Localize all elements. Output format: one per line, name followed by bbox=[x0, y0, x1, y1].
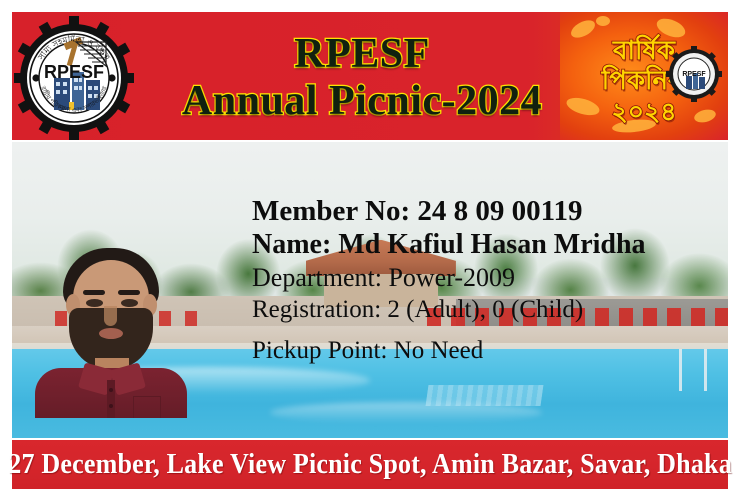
member-name-line: Name: Md Kafiul Hasan Mridha bbox=[252, 230, 732, 261]
member-no-line: Member No: 24 8 09 00119 bbox=[252, 196, 732, 228]
bengali-picnic-badge: বার্ষিক পিকনিক ২০২৪ bbox=[560, 12, 728, 140]
portrait-shirt-placket bbox=[107, 380, 115, 418]
portrait-shirt-pocket bbox=[133, 396, 161, 418]
title-line-1: RPESF bbox=[294, 33, 430, 76]
event-venue-date: 27 December, Lake View Picnic Spot, Amin… bbox=[8, 449, 732, 481]
picnic-invitation-card: RPESF সাম্য সহমর্মিতা ও বন্ধুত্ব রাষ্ট্র… bbox=[0, 0, 740, 504]
portrait-mouth bbox=[99, 328, 123, 339]
svg-text:RPESF: RPESF bbox=[44, 62, 104, 82]
department-line: Department: Power-2009 bbox=[252, 264, 732, 293]
portrait-nose bbox=[104, 306, 117, 326]
portrait-eyebrow-right bbox=[118, 290, 140, 295]
member-photo bbox=[33, 246, 189, 418]
header-title: RPESF Annual Picnic-2024 bbox=[152, 18, 572, 138]
registration-line: Registration: 2 (Adult), 0 (Child) bbox=[252, 296, 732, 324]
footer-band: 27 December, Lake View Picnic Spot, Amin… bbox=[12, 440, 728, 489]
portrait-shirt-button bbox=[109, 404, 113, 408]
svg-text:RPESF: RPESF bbox=[682, 71, 706, 78]
header-band: RPESF সাম্য সহমর্মিতা ও বন্ধুত্ব রাষ্ট্র… bbox=[12, 12, 728, 140]
portrait-shirt-button bbox=[109, 388, 113, 392]
splash-decoration bbox=[596, 16, 610, 26]
title-line-2: Annual Picnic-2024 bbox=[182, 80, 542, 123]
member-details: Member No: 24 8 09 00119 Name: Md Kafiul… bbox=[252, 196, 732, 364]
badge-gear-icon: RPESF bbox=[666, 46, 722, 102]
portrait-eye-left bbox=[86, 299, 103, 307]
portrait-eye-right bbox=[121, 299, 138, 307]
pickup-point-line: Pickup Point: No Need bbox=[252, 337, 732, 365]
pool-tiles bbox=[426, 385, 543, 406]
rpesf-logo-icon: RPESF সাম্য সহমর্মিতা ও বন্ধুত্ব রাষ্ট্র… bbox=[14, 16, 134, 140]
portrait-eyebrow-left bbox=[83, 290, 105, 295]
